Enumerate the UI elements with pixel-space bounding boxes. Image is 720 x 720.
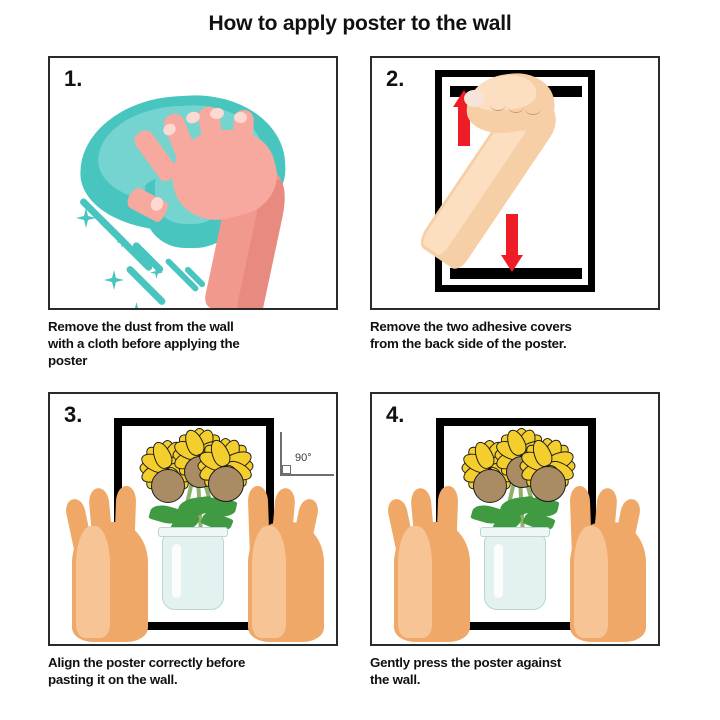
step-card-1: 1. xyxy=(48,56,338,369)
step-4-illustration-panel: 4. xyxy=(370,392,660,646)
step-2-caption: Remove the two adhesive covers from the … xyxy=(370,319,660,353)
step-2-illustration-panel: 2. xyxy=(370,56,660,310)
step-card-2: 2. Remove the two adhesive c xyxy=(370,56,660,353)
step-3-number: 3. xyxy=(64,402,82,428)
step-1-number: 1. xyxy=(64,66,82,92)
instruction-sheet: How to apply poster to the wall 1. xyxy=(0,0,720,720)
step-1-illustration-panel: 1. xyxy=(48,56,338,310)
step-4-caption: Gently press the poster against the wall… xyxy=(370,655,660,689)
step-4-number: 4. xyxy=(386,402,404,428)
angle-label: 90° xyxy=(295,452,312,464)
page-title: How to apply poster to the wall xyxy=(0,12,720,36)
step-1-caption: Remove the dust from the wall with a clo… xyxy=(48,319,338,369)
step-card-3: 3. xyxy=(48,392,338,689)
step-card-4: 4. xyxy=(370,392,660,689)
arrow-down-icon xyxy=(501,214,523,272)
step-3-caption: Align the poster correctly before pastin… xyxy=(48,655,338,689)
step-2-number: 2. xyxy=(386,66,404,92)
right-angle-icon: 90° xyxy=(278,432,334,480)
step-3-illustration-panel: 3. xyxy=(48,392,338,646)
